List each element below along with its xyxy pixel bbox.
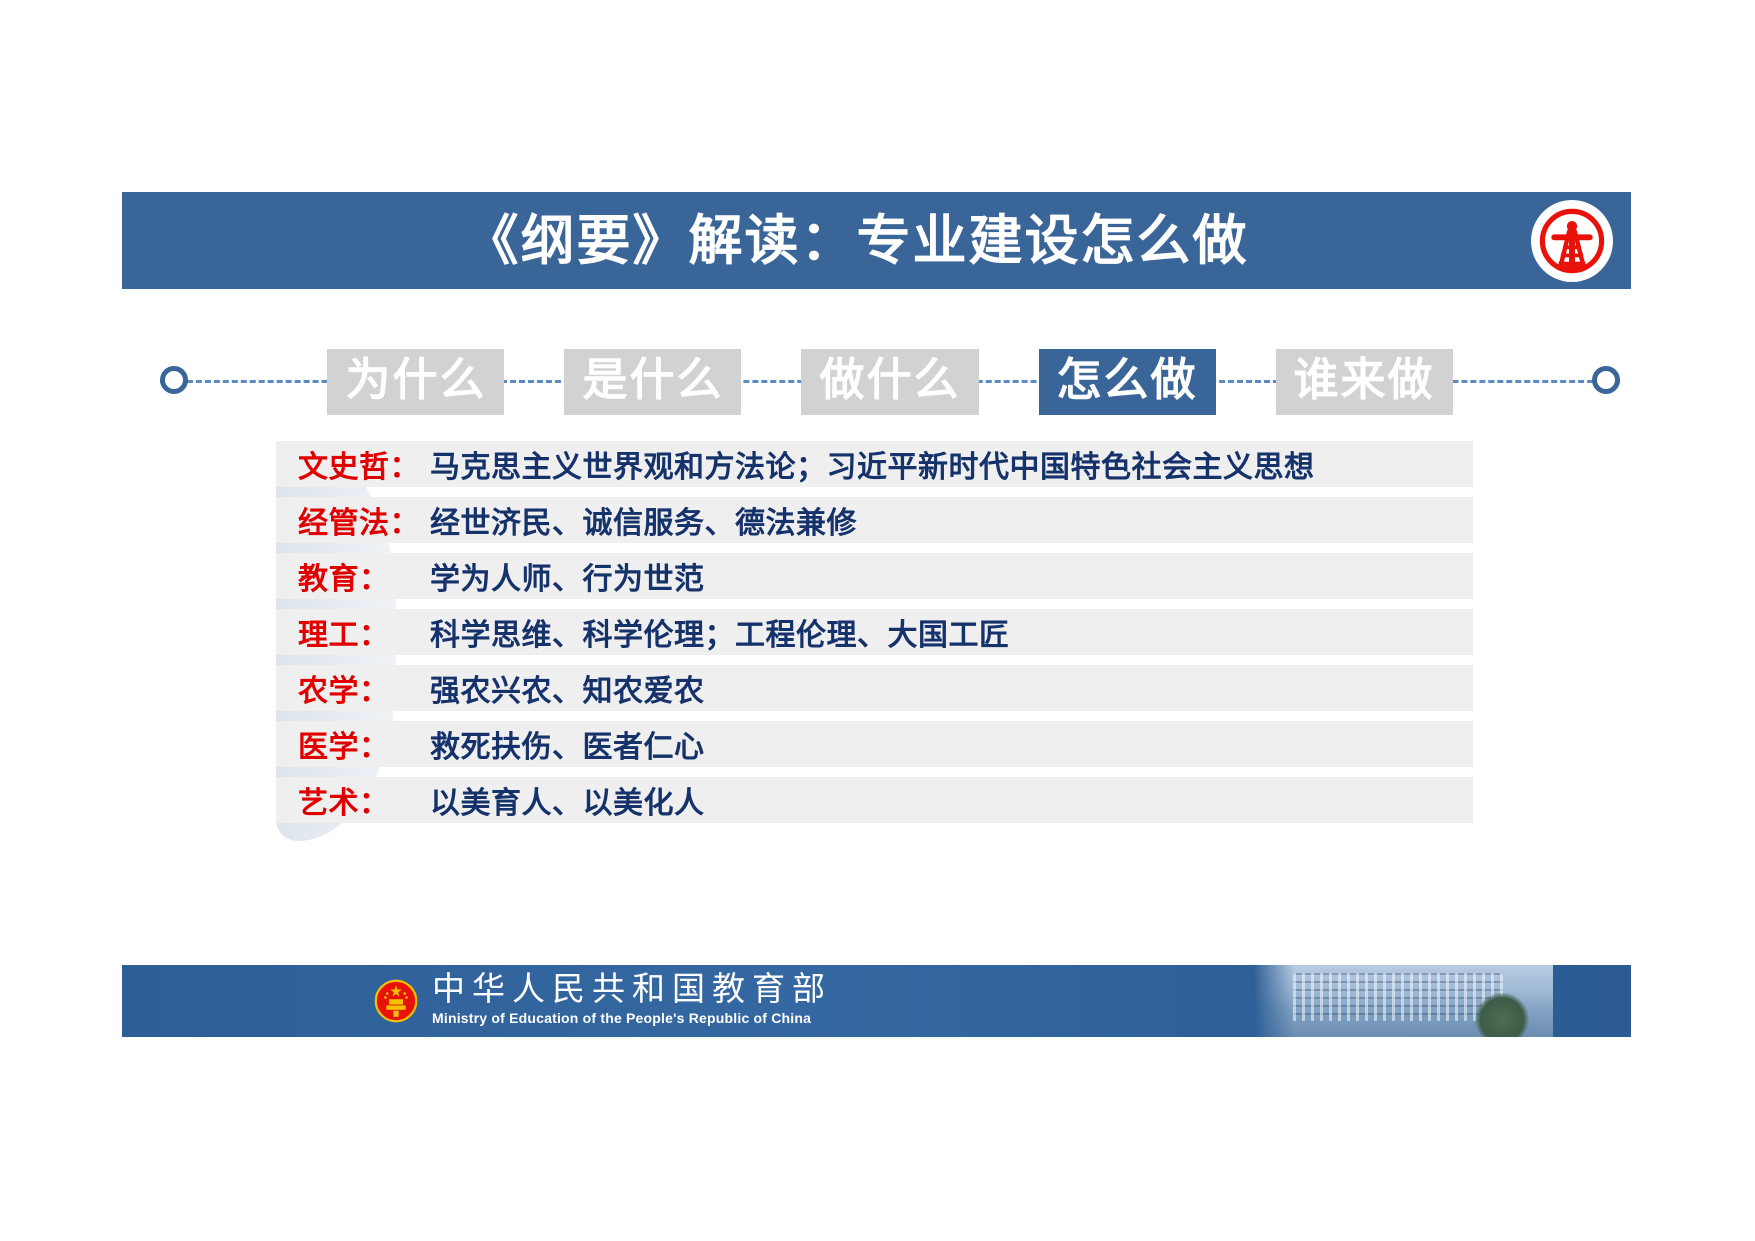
footer-org-cn: 中华人民共和国教育部 <box>432 973 1132 1008</box>
row-label: 文史哲： <box>298 442 430 486</box>
tab-shuilaizuo[interactable]: 谁来做 <box>1276 349 1453 415</box>
table-row: 医学： 救死扶伤、医者仁心 <box>276 721 1473 767</box>
row-text: 经世济民、诚信服务、德法兼修 <box>430 498 857 542</box>
row-text: 学为人师、行为世范 <box>430 554 705 598</box>
footer-org-block: 中华人民共和国教育部 Ministry of Education of the … <box>432 973 1132 1026</box>
slide-title-bar: 《纲要》解读：专业建设怎么做 <box>122 192 1631 289</box>
table-row: 农学： 强农兴农、知农爱农 <box>276 665 1473 711</box>
row-label: 艺术： <box>298 778 430 822</box>
tab-zenmezuo[interactable]: 怎么做 <box>1039 349 1216 415</box>
row-label: 经管法： <box>298 498 430 542</box>
row-label: 农学： <box>298 666 430 710</box>
table-row: 文史哲： 马克思主义世界观和方法论；习近平新时代中国特色社会主义思想 <box>276 441 1473 487</box>
table-row: 理工： 科学思维、科学伦理；工程伦理、大国工匠 <box>276 609 1473 655</box>
row-text: 马克思主义世界观和方法论；习近平新时代中国特色社会主义思想 <box>430 442 1315 486</box>
row-text: 救死扶伤、医者仁心 <box>430 722 705 766</box>
row-text: 科学思维、科学伦理；工程伦理、大国工匠 <box>430 610 1010 654</box>
nav-tab-list: 为什么 是什么 做什么 怎么做 谁来做 <box>160 337 1620 427</box>
row-text: 强农兴农、知农爱农 <box>430 666 705 710</box>
content-panel: 文史哲： 马克思主义世界观和方法论；习近平新时代中国特色社会主义思想 经管法： … <box>276 441 1473 841</box>
table-row: 经管法： 经世济民、诚信服务、德法兼修 <box>276 497 1473 543</box>
footer-org-en: Ministry of Education of the People's Re… <box>432 1010 1132 1026</box>
footer-bar: 中华人民共和国教育部 Ministry of Education of the … <box>122 965 1631 1037</box>
table-row: 艺术： 以美育人、以美化人 <box>276 777 1473 823</box>
red-circular-emblem-icon <box>1531 200 1613 282</box>
building-photo-icon <box>1253 965 1553 1037</box>
tab-weishenme[interactable]: 为什么 <box>327 349 504 415</box>
row-text: 以美育人、以美化人 <box>430 778 705 822</box>
row-label: 教育： <box>298 554 430 598</box>
tab-zuoshenme[interactable]: 做什么 <box>801 349 978 415</box>
step-nav: 为什么 是什么 做什么 怎么做 谁来做 <box>160 337 1620 427</box>
table-row: 教育： 学为人师、行为世范 <box>276 553 1473 599</box>
row-label: 理工： <box>298 610 430 654</box>
tab-shishenme[interactable]: 是什么 <box>564 349 741 415</box>
discipline-row-list: 文史哲： 马克思主义世界观和方法论；习近平新时代中国特色社会主义思想 经管法： … <box>276 441 1473 841</box>
row-label: 医学： <box>298 722 430 766</box>
national-emblem-icon <box>374 979 418 1023</box>
slide-canvas: 《纲要》解读：专业建设怎么做 为什么 是什么 做什么 怎么做 谁来做 <box>0 0 1755 1241</box>
page-title: 《纲要》解读：专业建设怎么做 <box>465 214 1289 268</box>
